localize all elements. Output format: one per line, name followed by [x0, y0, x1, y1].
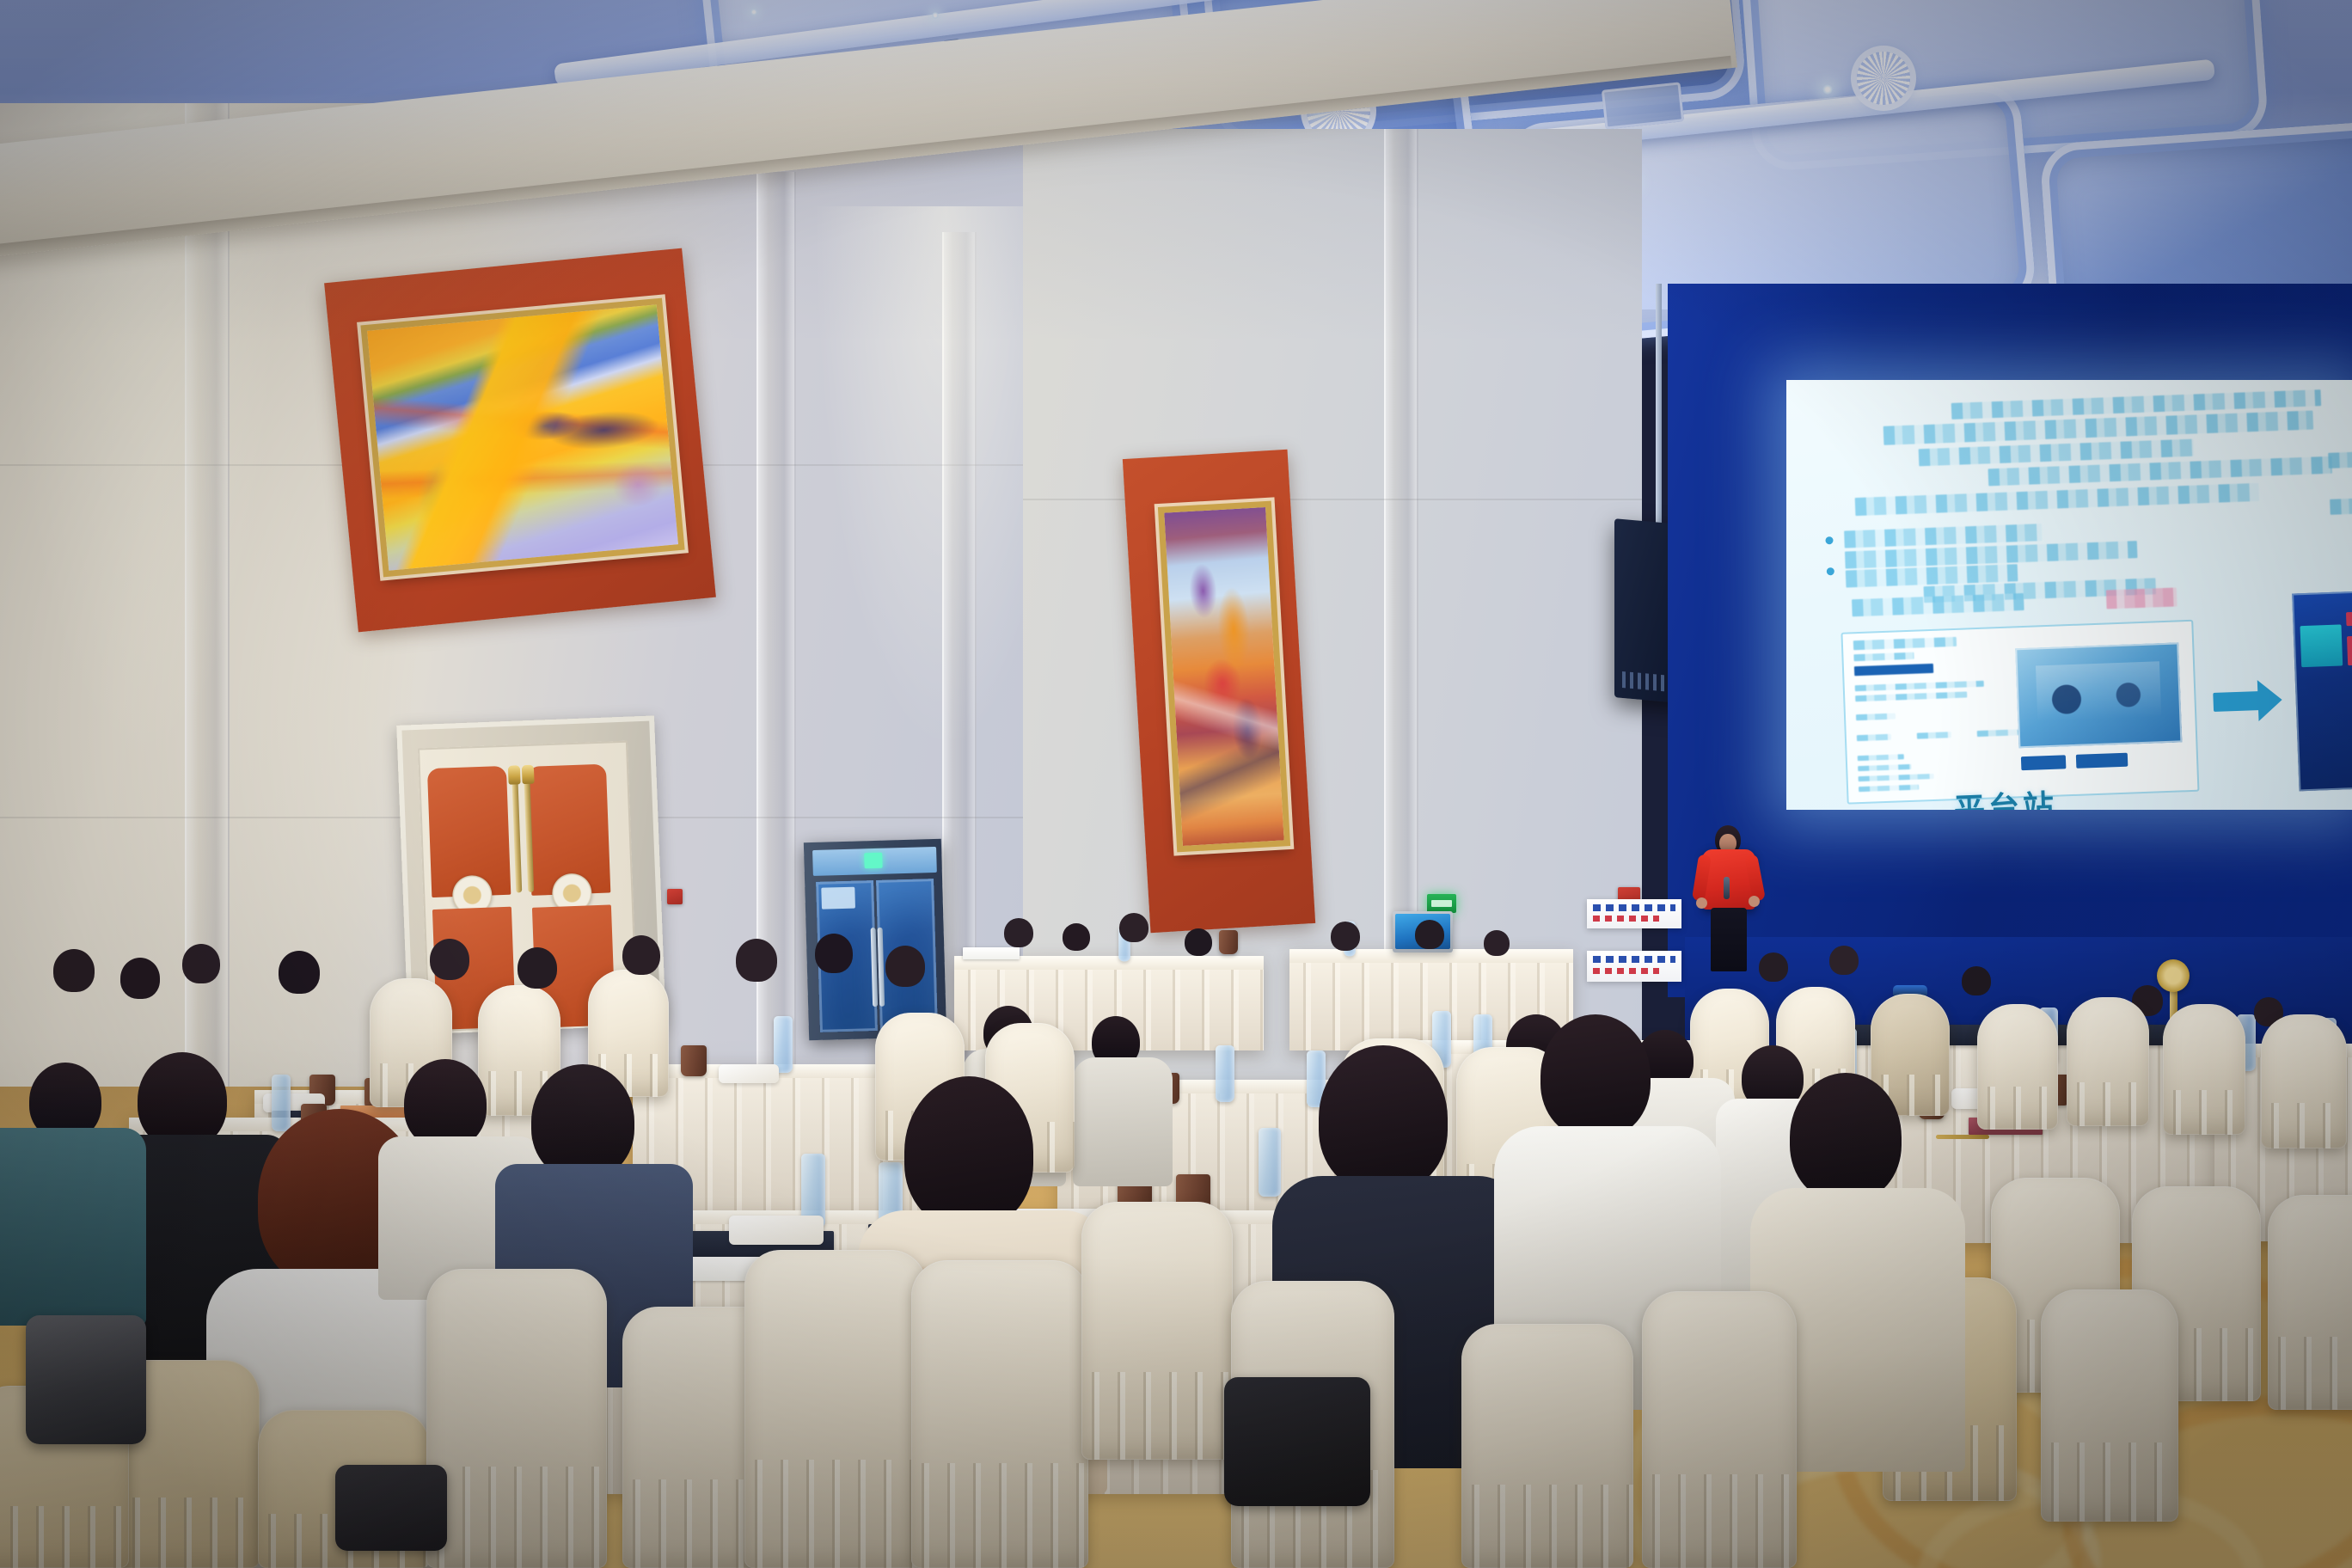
rear-wall — [1023, 129, 1642, 1092]
banquet-chair — [2268, 1195, 2352, 1410]
audience-head — [904, 1076, 1033, 1228]
audience-head — [1962, 966, 1991, 995]
folded-napkin — [729, 1216, 824, 1245]
audience-head — [404, 1059, 487, 1148]
banquet-chair — [911, 1260, 1088, 1568]
audience-head — [1540, 1014, 1651, 1138]
blue-water-bottle — [272, 1075, 291, 1131]
slide-flow-arrow — [2213, 691, 2260, 712]
banquet-chair — [426, 1269, 607, 1568]
banquet-chair — [1977, 1004, 2058, 1130]
audience-head — [815, 934, 853, 973]
slide-screenshot-card — [1841, 620, 2199, 805]
presenter-trousers — [1711, 908, 1747, 971]
clay-teacup — [1219, 930, 1238, 954]
cooler-door-handle[interactable] — [871, 928, 879, 1007]
handbag — [335, 1465, 447, 1551]
speaker-suspension-rod — [1656, 284, 1662, 533]
door-pull-handle[interactable] — [512, 781, 523, 892]
banquet-chair — [1642, 1291, 1797, 1568]
audience-head — [1790, 1073, 1902, 1202]
blue-water-bottle — [1259, 1128, 1281, 1197]
handbag — [1224, 1377, 1370, 1506]
audience-torso — [0, 1128, 146, 1326]
backpack — [26, 1315, 146, 1444]
presenter-speaker — [1695, 825, 1773, 980]
audience-head — [1484, 930, 1510, 956]
audience-torso — [1073, 1057, 1173, 1186]
audience-head — [53, 949, 95, 992]
audience-head — [182, 944, 220, 983]
banquet-chair — [744, 1250, 927, 1568]
audience-head — [1331, 922, 1360, 951]
emergency-exit-sign — [1427, 894, 1456, 913]
audience-head — [518, 947, 557, 989]
thumb-mobile-app — [2292, 587, 2352, 791]
audience-head — [1119, 913, 1148, 942]
banquet-chair — [1461, 1324, 1633, 1568]
painting-landscape — [360, 298, 684, 578]
fire-alarm-call-point — [667, 889, 683, 904]
blue-water-bottle — [1216, 1045, 1234, 1102]
folded-napkin — [719, 1064, 779, 1083]
audience-head — [1759, 952, 1788, 982]
banquet-chair — [2067, 997, 2149, 1126]
audience-head — [1415, 920, 1444, 949]
projection-screen: 平台站 — [1786, 380, 2352, 810]
slide-button-chip — [2076, 753, 2128, 769]
cooler-temperature-display — [865, 853, 883, 869]
slide-bullet-dot — [1825, 536, 1833, 544]
notepad — [963, 947, 1020, 959]
clay-teacup — [681, 1045, 707, 1076]
audience-head — [531, 1064, 634, 1179]
audience-head — [1829, 946, 1859, 975]
slide-button-chip — [2021, 755, 2067, 770]
audience-head — [279, 951, 320, 994]
door-handle-cap — [508, 765, 521, 784]
door-handle-cap — [522, 765, 535, 784]
speaker-brand-mark — [1622, 671, 1671, 692]
audience-head — [120, 958, 160, 999]
audience-head — [1319, 1045, 1448, 1191]
ceiling-rosette-medallion — [1857, 52, 1910, 105]
cooler-energy-label — [821, 887, 854, 910]
painting-vertical — [1158, 501, 1290, 853]
gold-pen — [1936, 1135, 1989, 1139]
slide-caption: 平台站 — [1953, 781, 2058, 810]
thumb-screenshot-ui — [2015, 642, 2182, 748]
slide-bullet-dot — [1827, 567, 1834, 575]
audience-head — [736, 939, 777, 982]
banquet-chair — [2163, 1004, 2245, 1135]
banquet-chair — [2261, 1014, 2347, 1148]
audience-head — [1185, 928, 1212, 956]
audience-head — [622, 935, 660, 975]
rear-banner-lower — [1587, 951, 1681, 982]
presenter-hand-right — [1749, 896, 1760, 907]
conference-hall-photo: 平台站 — [0, 0, 2352, 1568]
banquet-chair — [2041, 1289, 2178, 1522]
audience-head — [1004, 918, 1033, 947]
audience-head — [430, 939, 469, 980]
audience-head — [885, 946, 925, 987]
handheld-microphone — [1724, 877, 1730, 899]
banquet-chair — [1081, 1202, 1233, 1460]
audience-head — [1063, 923, 1090, 951]
rear-banner-upper — [1587, 899, 1681, 928]
presenter-hand-left — [1696, 897, 1707, 909]
